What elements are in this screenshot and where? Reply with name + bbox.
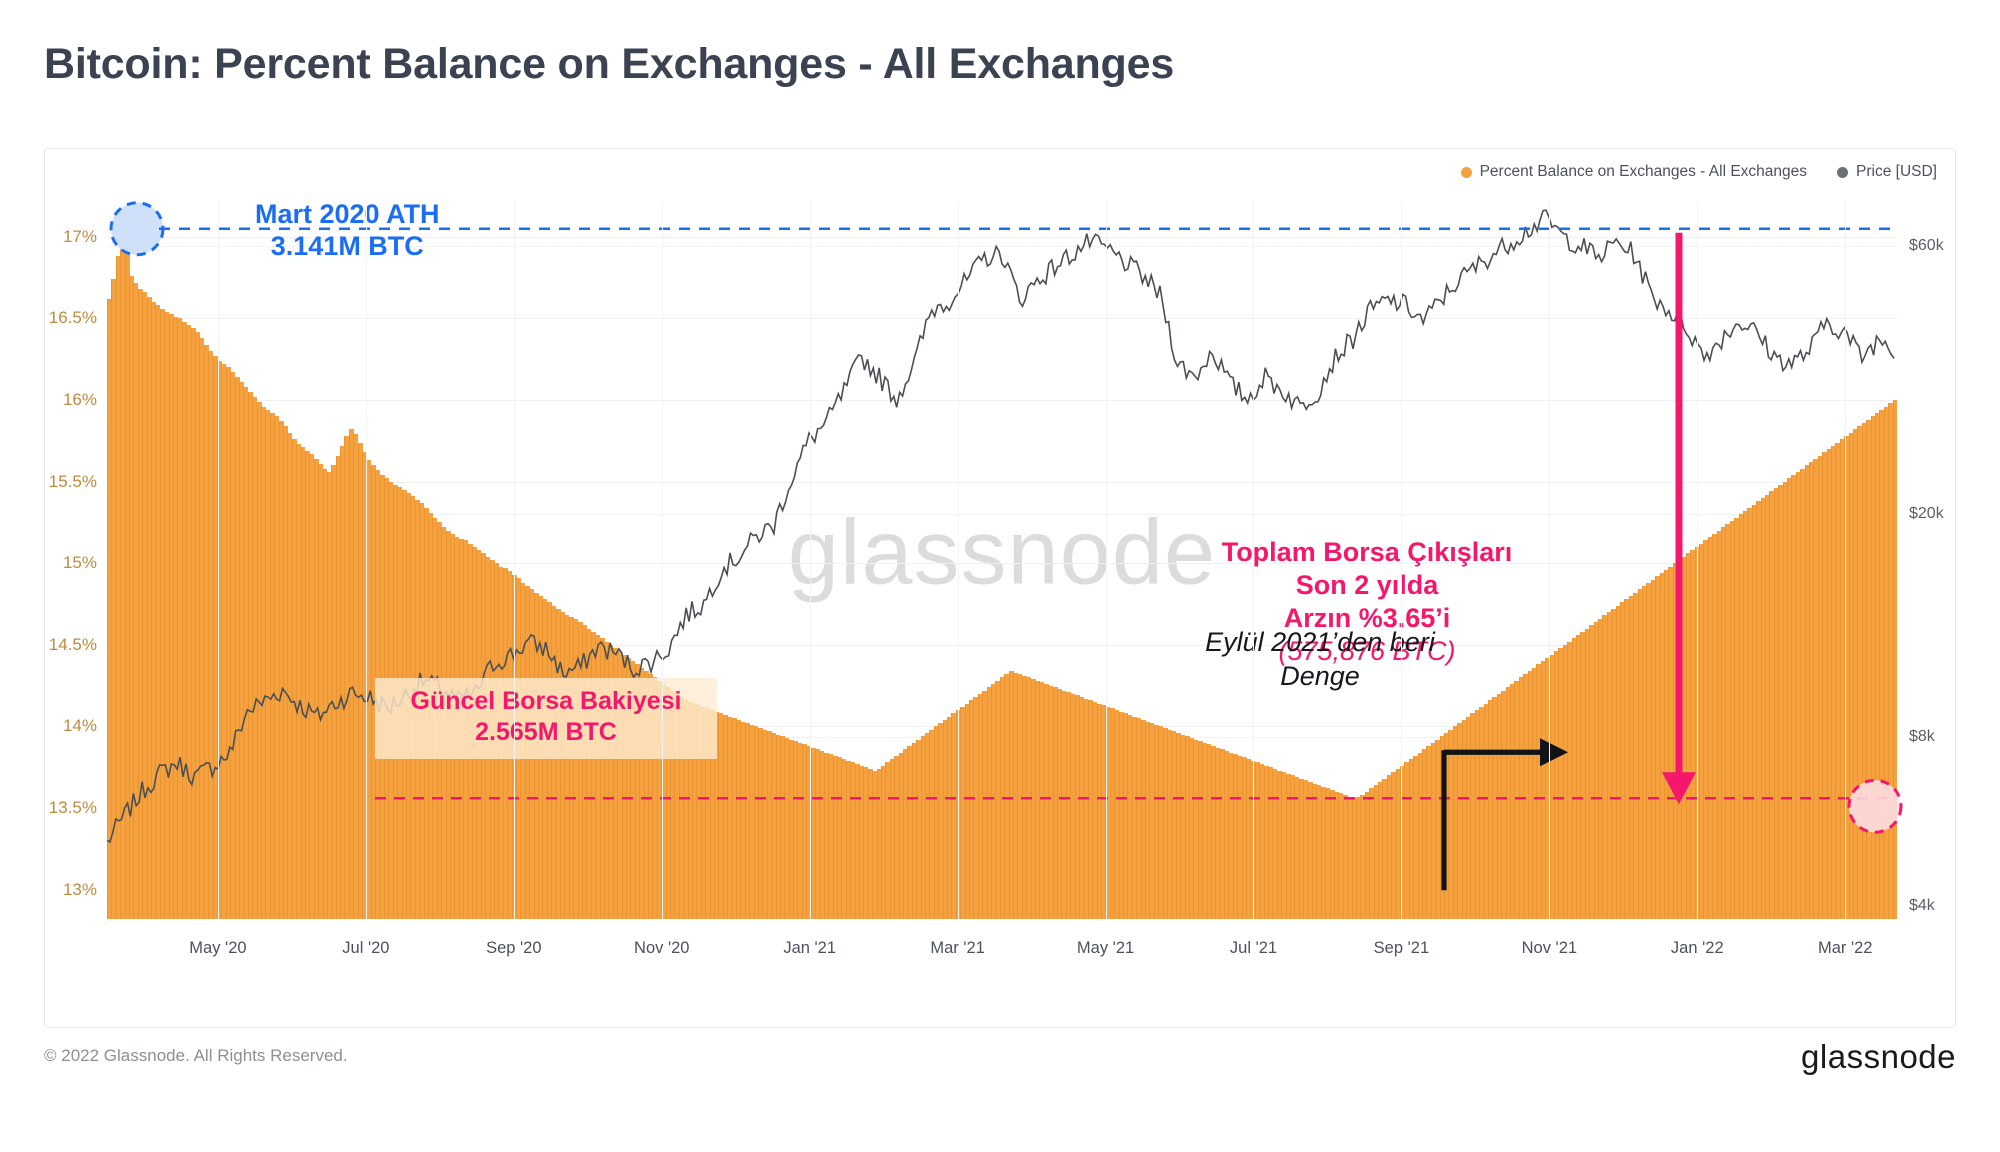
gridline-vertical [1697,201,1698,919]
chart-legend: Percent Balance on Exchanges - All Excha… [1461,163,1937,181]
current-balance-marker-icon [1849,780,1901,832]
ath-marker-icon [111,203,163,255]
x-axis-tick-label: Mar '22 [1818,939,1873,958]
y-axis-tick-label: 17% [63,227,97,247]
y-axis-tick-label: 14% [63,716,97,736]
annotation-ath-line2: 3.141M BTC [255,231,440,263]
footer-logo: glassnode [1801,1038,1956,1076]
annotation-current-balance: Güncel Borsa Bakiyesi 2.565M BTC [375,678,717,759]
legend-price-label: Price [USD] [1856,163,1937,181]
footer-copyright: © 2022 Glassnode. All Rights Reserved. [44,1046,348,1066]
y-axis-tick-label: 14.5% [49,635,97,655]
x-axis-tick-label: Sep '21 [1374,939,1429,958]
legend-item-series[interactable]: Percent Balance on Exchanges - All Excha… [1461,163,1807,181]
annotation-outflows-line1: Toplam Borsa Çıkışları [1157,536,1577,569]
y-axis-tick-label: 13.5% [49,798,97,818]
y-axis-tick-label: 13% [63,880,97,900]
y2-axis-tick-label: $8k [1909,728,1935,746]
gridline-vertical [810,201,811,919]
annotation-ath: Mart 2020 ATH 3.141M BTC [255,199,440,263]
x-axis-tick-label: Mar '21 [930,939,985,958]
legend-price-dot-icon [1837,167,1848,178]
annotation-equilibrium-line2: Denge [1180,660,1460,694]
x-axis-tick-label: Jul '21 [1230,939,1277,958]
y2-axis-tick-label: $4k [1909,897,1935,915]
gridline-vertical [366,201,367,919]
y-axis-tick-label: 16.5% [49,308,97,328]
gridline-vertical [958,201,959,919]
gridline-vertical [514,201,515,919]
x-axis-tick-label: Jan '22 [1671,939,1724,958]
y-axis-tick-label: 15% [63,553,97,573]
y2-axis-tick-label: $60k [1909,237,1944,255]
plot-area[interactable]: glassnode Mart 2020 ATH 3.141M BTC Topla… [107,201,1897,919]
annotation-equilibrium: Eylül 2021’den beri Denge [1180,626,1460,694]
gridline-vertical [662,201,663,919]
annotation-overlay [107,201,1897,919]
gridline-vertical [1549,201,1550,919]
legend-series-label: Percent Balance on Exchanges - All Excha… [1480,163,1807,181]
chart-card: Percent Balance on Exchanges - All Excha… [44,148,1956,1028]
legend-item-price[interactable]: Price [USD] [1837,163,1937,181]
gridline-vertical [1845,201,1846,919]
x-axis-tick-label: May '20 [189,939,246,958]
annotation-equilibrium-line1: Eylül 2021’den beri [1180,626,1460,660]
y-axis-tick-label: 16% [63,390,97,410]
x-axis-tick-label: Jan '21 [783,939,836,958]
y2-axis-tick-label: $20k [1909,505,1944,523]
x-axis-tick-label: Nov '20 [634,939,689,958]
gridline-vertical [1253,201,1254,919]
x-axis-tick-label: Nov '21 [1522,939,1577,958]
gridline-vertical [1106,201,1107,919]
page-title: Bitcoin: Percent Balance on Exchanges - … [44,40,1174,89]
equilibrium-arrow-head [1540,738,1568,766]
chart-page: Bitcoin: Percent Balance on Exchanges - … [0,0,2000,1152]
y-axis-tick-label: 15.5% [49,472,97,492]
gridline-vertical [1401,201,1402,919]
annotation-outflows-line2: Son 2 yılda [1157,569,1577,602]
x-axis-tick-label: Sep '20 [486,939,541,958]
x-axis-tick-label: Jul '20 [342,939,389,958]
annotation-ath-line1: Mart 2020 ATH [255,199,440,231]
gridline-vertical [218,201,219,919]
x-axis-tick-label: May '21 [1077,939,1134,958]
legend-series-dot-icon [1461,167,1472,178]
